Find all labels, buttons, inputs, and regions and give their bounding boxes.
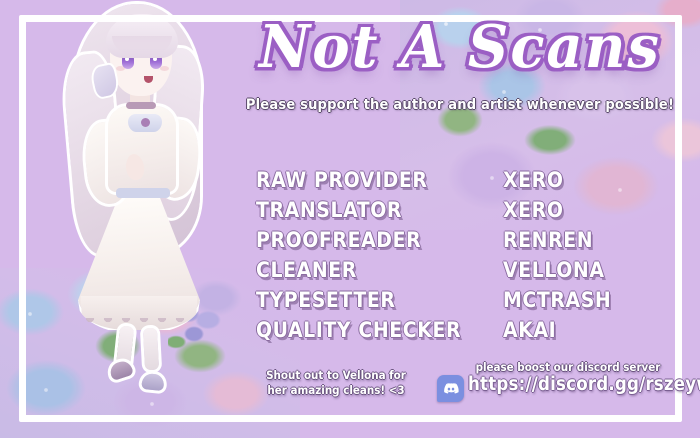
credit-row: RAW PROVIDER XERO — [256, 168, 656, 198]
credit-role: PROOFREADER — [256, 228, 503, 252]
character-waist-sash — [116, 188, 170, 198]
credit-role: TYPESETTER — [256, 288, 503, 312]
support-message: Please support the author and artist whe… — [236, 97, 684, 113]
credits-list: RAW PROVIDER XERO TRANSLATOR XERO PROOFR… — [256, 168, 656, 348]
discord-invite[interactable]: please boost our discord server https://… — [436, 360, 674, 406]
shoutout-line-1: Shout out to Vellona for — [252, 368, 420, 383]
credit-role: TRANSLATOR — [256, 198, 503, 222]
credit-row: TRANSLATOR XERO — [256, 198, 656, 228]
credits-banner: Not A Scans Please support the author an… — [0, 0, 700, 438]
discord-url[interactable]: https://discord.gg/rszeywm — [468, 374, 700, 395]
credit-role: CLEANER — [256, 258, 503, 282]
credit-row: QUALITY CHECKER AKAI — [256, 318, 656, 348]
character-skirt-lace — [82, 318, 196, 330]
credit-name: MCTRASH — [503, 288, 611, 312]
shoutout-note: Shout out to Vellona for her amazing cle… — [252, 368, 420, 398]
credit-row: TYPESETTER MCTRASH — [256, 288, 656, 318]
character-neck-bow — [128, 114, 162, 132]
shoutout-line-2: her amazing cleans! <3 — [252, 383, 420, 398]
character-shoe-right — [141, 373, 165, 391]
discord-caption: please boost our discord server — [466, 360, 670, 374]
character-cheek-right — [160, 66, 169, 71]
credit-name: XERO — [503, 168, 564, 192]
credit-name: VELLONA — [503, 258, 605, 282]
character-choker — [126, 102, 156, 109]
credit-row: CLEANER VELLONA — [256, 258, 656, 288]
credit-role: QUALITY CHECKER — [256, 318, 503, 342]
credit-role: RAW PROVIDER — [256, 168, 503, 192]
credit-name: RENREN — [503, 228, 593, 252]
credit-row: PROOFREADER RENREN — [256, 228, 656, 258]
credit-name: AKAI — [503, 318, 556, 342]
character-illustration — [68, 0, 208, 426]
discord-icon[interactable] — [437, 375, 464, 402]
character-leg-right — [143, 328, 159, 371]
credit-name: XERO — [503, 198, 564, 222]
page-title: Not A Scans — [236, 6, 684, 89]
